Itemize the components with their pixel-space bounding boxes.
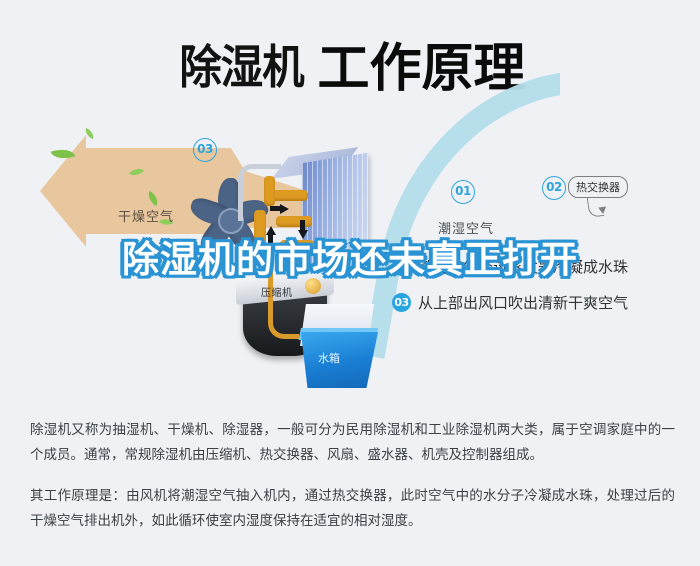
flow-arrow-up-icon (266, 226, 276, 235)
page-title-light: 除湿机 (180, 31, 304, 97)
arc-mask (560, 58, 700, 178)
diagram-badge-heat-exchanger: 02 (542, 176, 566, 200)
legend-item: 03 从上部出风口吹出清新干爽空气 (392, 284, 692, 320)
copper-pipe (276, 216, 312, 227)
diagram-label-humid-air: 潮湿空气 (438, 218, 494, 237)
body-paragraph-2: 其工作原理是：由风机将潮湿空气抽入机内，通过热交换器，此时空气中的水分子冷凝成水… (30, 484, 675, 534)
body-copy: 除湿机又称为抽湿机、干燥机、除湿器，一般可分为民用除湿机和工业除湿机两大类，属于… (30, 418, 675, 550)
diagram-label-dry-air: 干燥空气 (118, 206, 174, 225)
diagram-badge-humid-air: 01 (451, 180, 475, 204)
legend-badge: 03 (392, 293, 411, 312)
overlay-headline: 除湿机的市场还未真正打开 (0, 240, 700, 280)
infographic-page: 除湿机工作原理 03 干燥空气 (0, 0, 700, 566)
flow-arrow-right-icon (280, 204, 289, 214)
diagram-label-water-tank: 水箱 (318, 350, 340, 366)
copper-pipe (264, 176, 275, 206)
page-title-bold: 工作原理 (317, 26, 525, 101)
body-paragraph-1: 除湿机又称为抽湿机、干燥机、除湿器，一般可分为民用除湿机和工业除湿机两大类，属于… (30, 418, 675, 468)
diagram-badge-dry-air: 03 (193, 138, 217, 162)
legend-item-label: 从上部出风口吹出清新干爽空气 (418, 292, 628, 313)
diagram-label-compressor: 压缩机 (261, 284, 293, 299)
